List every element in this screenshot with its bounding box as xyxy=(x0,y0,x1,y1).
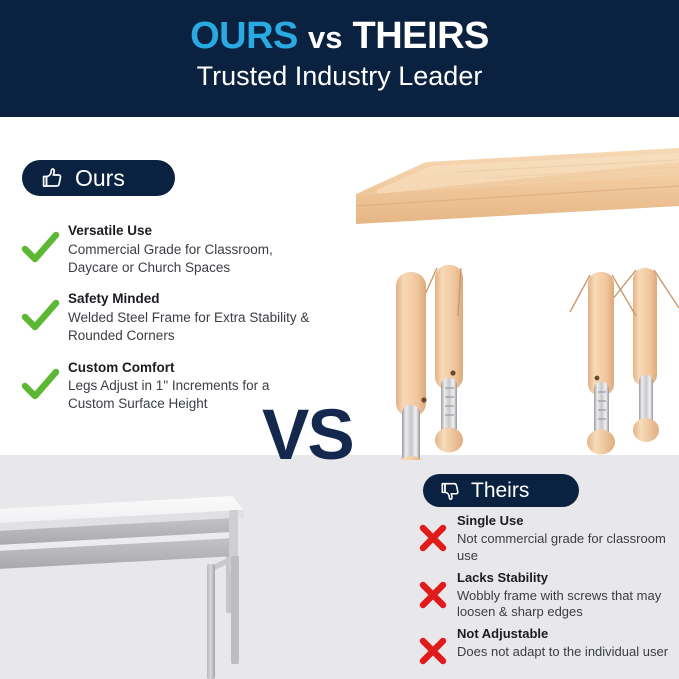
list-item-description: Not commercial grade for classroom use xyxy=(457,531,679,565)
title-vs-word: vs xyxy=(308,20,342,55)
list-item-description: Commercial Grade for Classroom, Daycare … xyxy=(68,241,318,277)
list-item-title: Single Use xyxy=(457,513,679,530)
list-item: Lacks Stability Wobbly frame with screws… xyxy=(413,570,679,622)
check-icon xyxy=(18,226,62,270)
list-item-title: Versatile Use xyxy=(68,222,318,240)
list-item-description: Wobbly frame with screws that may loosen… xyxy=(457,588,679,622)
list-item: Versatile Use Commercial Grade for Class… xyxy=(18,222,318,276)
list-item: Single Use Not commercial grade for clas… xyxy=(413,513,679,565)
wood-adjustable-table-image xyxy=(336,120,679,460)
page-subtitle: Trusted Industry Leader xyxy=(0,62,679,92)
thumbs-up-icon xyxy=(40,166,64,190)
cross-icon xyxy=(413,518,453,558)
list-item-text: Not Adjustable Does not adapt to the ind… xyxy=(457,626,679,661)
comparison-infographic: OURS vs THEIRS Trusted Industry Leader O… xyxy=(0,0,679,679)
header-band: OURS vs THEIRS Trusted Industry Leader xyxy=(0,0,679,117)
list-item-text: Lacks Stability Wobbly frame with screws… xyxy=(457,570,679,622)
list-item-description: Welded Steel Frame for Extra Stability &… xyxy=(68,309,318,345)
list-item-text: Safety Minded Welded Steel Frame for Ext… xyxy=(68,290,318,344)
list-item-title: Not Adjustable xyxy=(457,626,679,643)
page-title: OURS vs THEIRS xyxy=(0,17,679,55)
ours-badge: Ours xyxy=(22,160,175,196)
list-item-text: Versatile Use Commercial Grade for Class… xyxy=(68,222,318,276)
ours-badge-label: Ours xyxy=(75,167,125,190)
theirs-badge: Theirs xyxy=(423,474,579,507)
list-item: Safety Minded Welded Steel Frame for Ext… xyxy=(18,290,318,344)
list-item-title: Safety Minded xyxy=(68,290,318,308)
thumbs-down-icon xyxy=(439,480,461,502)
ours-feature-list: Versatile Use Commercial Grade for Class… xyxy=(18,222,318,413)
check-icon xyxy=(18,363,62,407)
list-item-text: Single Use Not commercial grade for clas… xyxy=(457,513,679,565)
title-theirs-word: THEIRS xyxy=(353,15,489,57)
vs-divider-label: VS xyxy=(262,400,353,471)
gray-metal-table-image xyxy=(0,452,250,679)
list-item-title: Custom Comfort xyxy=(68,359,318,377)
cross-icon xyxy=(413,575,453,615)
theirs-badge-label: Theirs xyxy=(471,480,529,501)
check-icon xyxy=(18,294,62,338)
list-item: Not Adjustable Does not adapt to the ind… xyxy=(413,626,679,671)
title-ours-word: OURS xyxy=(190,15,298,57)
list-item-title: Lacks Stability xyxy=(457,570,679,587)
cross-icon xyxy=(413,631,453,671)
list-item-description: Does not adapt to the individual user xyxy=(457,644,679,661)
theirs-feature-list: Single Use Not commercial grade for clas… xyxy=(413,513,679,671)
